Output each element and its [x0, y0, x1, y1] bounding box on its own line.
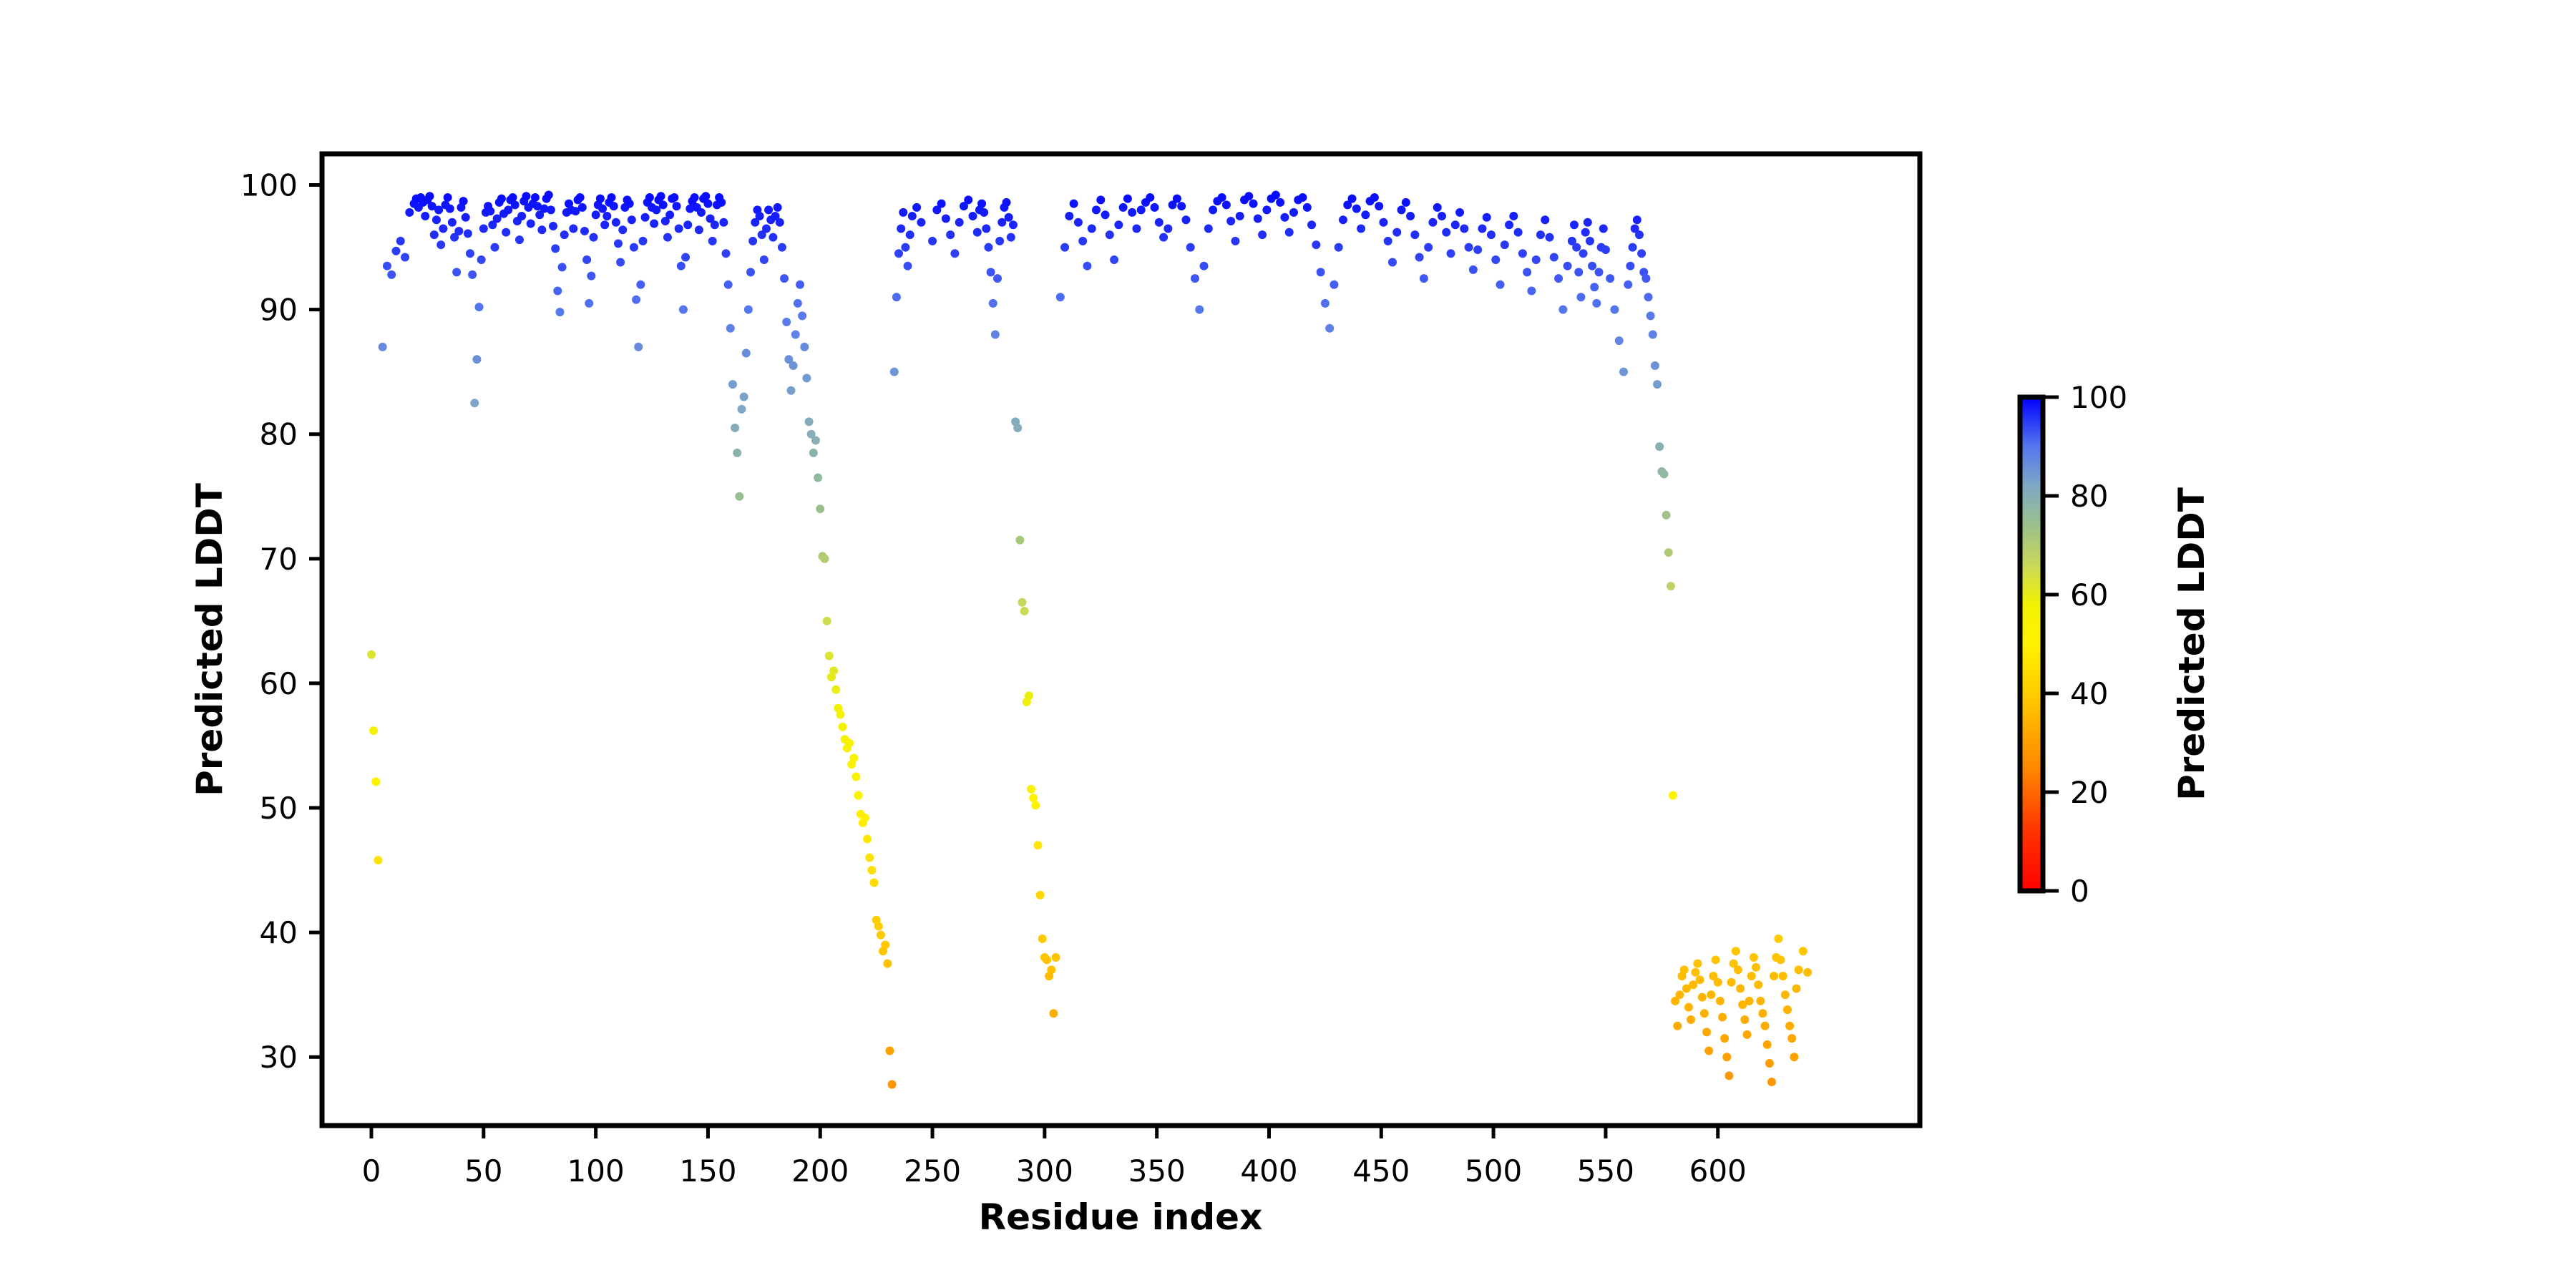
colorbar-gradient: [2020, 397, 2043, 891]
data-point: [436, 240, 445, 249]
data-point: [885, 1047, 894, 1055]
y-tick-label: 50: [260, 791, 298, 826]
data-point: [756, 212, 764, 220]
data-point: [1473, 245, 1482, 254]
data-point: [1357, 224, 1365, 233]
data-point: [1106, 230, 1114, 239]
data-point: [728, 380, 737, 389]
data-point: [701, 192, 710, 200]
data-point: [836, 710, 844, 718]
data-point: [392, 247, 401, 255]
data-point: [1777, 955, 1785, 964]
x-tick-label: 300: [1016, 1153, 1073, 1189]
data-point: [786, 386, 795, 395]
y-tick-label: 30: [260, 1040, 298, 1075]
data-point: [632, 296, 640, 304]
scatter-plot-svg: 050100150200250300350400450500550600 304…: [0, 0, 2576, 1288]
data-point: [1181, 215, 1190, 224]
data-point: [1790, 1053, 1798, 1061]
data-point: [764, 205, 773, 214]
data-point: [1783, 1005, 1792, 1014]
data-point: [665, 210, 674, 219]
data-point: [1074, 218, 1083, 227]
data-point: [1137, 205, 1146, 214]
data-point: [1043, 955, 1051, 964]
data-point: [890, 368, 899, 376]
data-point: [1002, 198, 1011, 207]
data-point: [928, 237, 937, 245]
data-point: [1803, 968, 1812, 977]
data-point: [1592, 299, 1601, 308]
data-point: [1722, 1053, 1731, 1061]
data-point: [446, 205, 454, 213]
data-point: [1151, 203, 1159, 212]
data-point: [1038, 935, 1047, 943]
colorbar-label: Predicted LDDT: [2171, 487, 2212, 801]
data-point: [1060, 243, 1069, 252]
data-point: [367, 650, 376, 659]
data-point: [1691, 968, 1699, 977]
data-point: [863, 835, 872, 844]
data-point: [1483, 213, 1491, 222]
data-point: [630, 243, 638, 252]
data-point: [823, 617, 831, 625]
data-point: [569, 224, 577, 233]
data-point: [641, 213, 650, 222]
data-point: [486, 207, 494, 215]
x-tick-label: 250: [904, 1153, 961, 1189]
data-point: [1518, 249, 1527, 258]
data-point: [459, 197, 468, 205]
data-point: [744, 306, 753, 314]
data-point: [950, 249, 959, 258]
data-point: [1033, 841, 1042, 849]
data-point: [993, 274, 1002, 283]
data-point: [1083, 262, 1091, 270]
data-point: [1249, 200, 1258, 208]
data-point: [1177, 202, 1186, 210]
data-point: [1361, 210, 1370, 219]
data-point: [789, 361, 798, 370]
data-point: [740, 393, 748, 401]
data-point: [1078, 237, 1087, 245]
x-axis-ticks: 050100150200250300350400450500550600: [362, 1126, 1747, 1189]
data-point: [1155, 218, 1163, 227]
data-point: [522, 192, 530, 200]
data-point: [1226, 217, 1235, 225]
data-point: [942, 215, 950, 223]
data-point: [1280, 213, 1289, 222]
data-point: [845, 739, 854, 748]
data-point: [1244, 192, 1253, 200]
data-point: [816, 504, 824, 513]
y-axis-label: Predicted LDDT: [189, 483, 230, 796]
data-point: [1704, 1047, 1713, 1055]
data-point: [462, 213, 470, 222]
data-point: [616, 258, 625, 266]
data-point: [582, 255, 591, 264]
data-point: [1258, 230, 1267, 239]
data-point: [1590, 283, 1599, 291]
data-point: [969, 212, 977, 220]
data-point: [1779, 972, 1787, 980]
data-point: [1146, 193, 1154, 202]
data-point: [537, 225, 546, 234]
data-point: [576, 193, 585, 202]
data-point: [737, 405, 746, 414]
data-point: [1586, 237, 1594, 245]
data-point: [899, 208, 907, 217]
data-point: [1013, 424, 1022, 432]
data-point: [1218, 193, 1226, 202]
data-point: [1743, 1030, 1752, 1039]
data-point: [553, 287, 562, 296]
data-point: [1673, 1022, 1682, 1030]
data-point: [430, 230, 439, 239]
data-point: [746, 268, 755, 276]
data-point: [1029, 794, 1038, 802]
data-point: [1646, 311, 1655, 320]
data-point: [735, 492, 743, 501]
data-point: [989, 299, 997, 308]
data-point: [1303, 203, 1312, 212]
data-point: [1667, 582, 1675, 590]
data-point: [439, 224, 447, 233]
x-tick-label: 0: [362, 1153, 381, 1189]
data-point: [995, 237, 1004, 245]
data-point: [1554, 274, 1563, 283]
data-point: [497, 195, 506, 203]
data-point: [1317, 268, 1325, 276]
data-point: [371, 777, 380, 786]
data-point: [628, 215, 636, 224]
data-point: [831, 686, 840, 694]
data-point: [1574, 268, 1583, 276]
data-point: [717, 198, 726, 207]
data-point: [1123, 195, 1132, 203]
x-tick-label: 600: [1689, 1153, 1747, 1189]
data-point: [1007, 233, 1015, 242]
data-point: [1052, 953, 1060, 962]
data-point: [796, 280, 804, 289]
data-point: [1254, 215, 1262, 223]
data-point: [1570, 220, 1579, 229]
data-point: [1687, 1015, 1695, 1024]
data-point: [724, 280, 733, 289]
data-point: [1754, 980, 1762, 989]
data-point: [464, 229, 472, 238]
data-point: [1767, 1078, 1776, 1086]
data-point: [892, 293, 901, 301]
data-point: [1624, 280, 1632, 289]
data-point: [778, 243, 786, 252]
data-point: [681, 253, 690, 262]
data-point: [477, 255, 486, 264]
data-point: [881, 941, 889, 950]
data-point: [1325, 324, 1334, 333]
data-point: [551, 244, 560, 253]
data-point: [1402, 198, 1410, 207]
data-point: [614, 239, 623, 248]
data-point: [1200, 262, 1209, 270]
data-point: [1096, 195, 1105, 204]
data-point: [1724, 1071, 1733, 1080]
data-point: [1231, 237, 1239, 245]
data-point: [955, 218, 964, 227]
data-point: [379, 343, 387, 351]
data-point: [448, 218, 457, 227]
data-point: [1795, 965, 1803, 974]
data-point: [1752, 963, 1760, 972]
data-point: [964, 195, 972, 204]
data-point: [1047, 965, 1055, 974]
figure-canvas: 050100150200250300350400450500550600 304…: [0, 0, 2576, 1288]
data-point: [854, 791, 863, 800]
data-point: [1455, 208, 1464, 217]
data-point: [1388, 258, 1397, 266]
data-point: [578, 203, 587, 212]
data-point: [1765, 1059, 1774, 1068]
data-point: [625, 200, 634, 208]
data-point: [1276, 198, 1284, 207]
data-point: [1128, 208, 1136, 217]
data-point: [1599, 224, 1608, 233]
data-point: [475, 303, 484, 311]
data-point: [894, 249, 903, 258]
data-point: [452, 268, 461, 276]
data-point: [1785, 1022, 1794, 1030]
data-point: [531, 193, 540, 202]
data-point: [977, 200, 986, 208]
data-point: [1761, 1022, 1770, 1030]
data-point: [917, 218, 925, 227]
x-tick-label: 350: [1128, 1153, 1186, 1189]
data-point: [722, 249, 731, 258]
data-point: [1619, 368, 1628, 376]
data-point: [679, 306, 688, 314]
data-point: [733, 449, 741, 457]
y-tick-label: 80: [260, 417, 298, 452]
data-point: [1420, 274, 1428, 283]
data-point: [1209, 205, 1217, 214]
data-point: [1379, 218, 1387, 227]
data-point: [1469, 265, 1478, 274]
data-point: [1222, 200, 1231, 209]
data-point: [897, 224, 905, 233]
x-tick-label: 150: [679, 1153, 736, 1189]
data-point: [585, 299, 593, 308]
data-point: [670, 193, 678, 202]
data-point: [711, 220, 719, 229]
data-point: [874, 922, 883, 930]
data-point: [865, 854, 874, 862]
colorbar-tick-label: 0: [2070, 874, 2089, 909]
data-point: [1132, 224, 1141, 233]
data-point: [1527, 287, 1536, 296]
data-point: [852, 773, 860, 781]
data-point: [1101, 210, 1110, 219]
data-point: [490, 243, 499, 252]
data-point: [636, 280, 645, 289]
data-point: [984, 243, 992, 252]
data-point: [1615, 336, 1624, 345]
data-point: [1321, 299, 1330, 308]
data-point: [602, 212, 611, 220]
data-point: [1707, 990, 1715, 999]
data-point: [1601, 245, 1610, 254]
data-point: [1662, 511, 1671, 519]
data-point: [1649, 330, 1657, 338]
data-point: [742, 349, 751, 358]
data-point: [1015, 536, 1024, 545]
data-point: [663, 233, 672, 242]
data-point: [901, 243, 909, 252]
data-point: [1644, 293, 1653, 301]
data-point: [1792, 984, 1801, 992]
data-point: [657, 192, 665, 200]
data-point: [1536, 230, 1545, 239]
data-point: [1700, 1009, 1709, 1018]
data-point: [798, 311, 806, 320]
data-point: [782, 318, 791, 326]
colorbar-tick-label: 40: [2070, 676, 2108, 711]
data-point: [1584, 218, 1592, 227]
data-point: [1637, 249, 1646, 258]
data-point: [470, 399, 479, 407]
data-point: [547, 205, 555, 214]
data-point: [1447, 249, 1455, 258]
data-point: [695, 225, 703, 234]
data-point: [1712, 955, 1720, 964]
data-point: [673, 202, 681, 210]
data-point: [1514, 228, 1523, 237]
data-point: [1696, 975, 1704, 984]
data-point: [374, 856, 382, 864]
data-point: [1392, 228, 1401, 237]
data-point: [1763, 1040, 1772, 1049]
data-point: [1581, 228, 1590, 237]
data-point: [870, 879, 879, 887]
data-point: [1610, 306, 1619, 314]
data-point: [1036, 891, 1045, 899]
data-point: [1774, 935, 1782, 943]
data-point: [1747, 972, 1756, 980]
data-point: [1159, 233, 1168, 242]
data-point: [861, 814, 869, 822]
data-point: [1005, 213, 1013, 222]
data-point: [1509, 212, 1518, 220]
data-point: [849, 753, 858, 762]
data-point: [1546, 233, 1554, 242]
data-point: [502, 228, 510, 237]
data-point: [650, 220, 658, 228]
data-point: [1799, 947, 1807, 955]
data-point: [811, 436, 820, 444]
data-point: [1424, 243, 1433, 252]
data-point: [405, 208, 414, 217]
x-tick-label: 200: [791, 1153, 849, 1189]
data-point: [697, 208, 706, 217]
data-point: [814, 474, 822, 482]
data-point: [1669, 791, 1677, 800]
data-point: [1027, 785, 1035, 794]
data-point: [1119, 203, 1128, 212]
data-point: [821, 555, 829, 563]
data-point: [1781, 990, 1790, 999]
data-point: [1698, 993, 1707, 1002]
data-point: [877, 931, 885, 940]
data-point: [1505, 220, 1513, 229]
data-point: [1018, 598, 1027, 607]
data-point: [780, 274, 789, 283]
data-point: [708, 237, 717, 245]
data-point: [829, 667, 838, 675]
data-point: [1734, 965, 1742, 974]
data-point: [800, 343, 809, 351]
data-point: [937, 200, 946, 208]
data-point: [1702, 1028, 1711, 1036]
data-point: [479, 224, 488, 233]
y-axis-ticks: 30405060708090100: [240, 168, 322, 1075]
data-point: [1758, 1009, 1767, 1018]
data-point: [980, 208, 988, 217]
data-point: [1442, 228, 1450, 237]
data-point: [1740, 1015, 1749, 1024]
data-point: [883, 960, 892, 968]
data-point: [612, 218, 620, 227]
data-point: [1563, 262, 1572, 270]
data-point: [592, 210, 600, 219]
data-point: [1397, 205, 1406, 214]
data-point: [1375, 202, 1383, 210]
data-point: [645, 193, 654, 202]
data-point: [421, 212, 429, 220]
data-point: [634, 343, 643, 351]
data-point: [1579, 249, 1588, 258]
data-point: [1335, 243, 1343, 252]
data-point: [867, 866, 876, 874]
data-point: [1339, 215, 1347, 224]
data-point: [1428, 218, 1437, 227]
data-point: [1633, 215, 1641, 224]
data-point: [1163, 224, 1172, 233]
data-point: [1056, 293, 1065, 301]
data-point: [1496, 280, 1505, 289]
data-point: [1312, 240, 1320, 249]
data-point: [675, 224, 683, 233]
data-point: [731, 424, 739, 432]
data-point: [1204, 224, 1213, 233]
data-point: [1694, 960, 1702, 968]
data-point: [1088, 224, 1096, 233]
data-point: [598, 205, 607, 213]
data-point: [387, 270, 396, 279]
data-point: [1745, 997, 1754, 1005]
data-point: [991, 330, 1000, 338]
data-point: [1501, 240, 1509, 249]
data-point: [517, 212, 526, 220]
data-point: [1465, 243, 1473, 252]
colorbar-tick-label: 20: [2070, 775, 2108, 810]
y-tick-label: 60: [260, 666, 298, 701]
data-point: [703, 200, 712, 208]
data-point: [511, 200, 519, 209]
data-point: [1478, 224, 1486, 233]
data-point: [1438, 212, 1446, 220]
data-point: [1433, 203, 1442, 212]
y-tick-label: 90: [260, 293, 298, 328]
x-axis-label: Residue index: [979, 1196, 1263, 1238]
